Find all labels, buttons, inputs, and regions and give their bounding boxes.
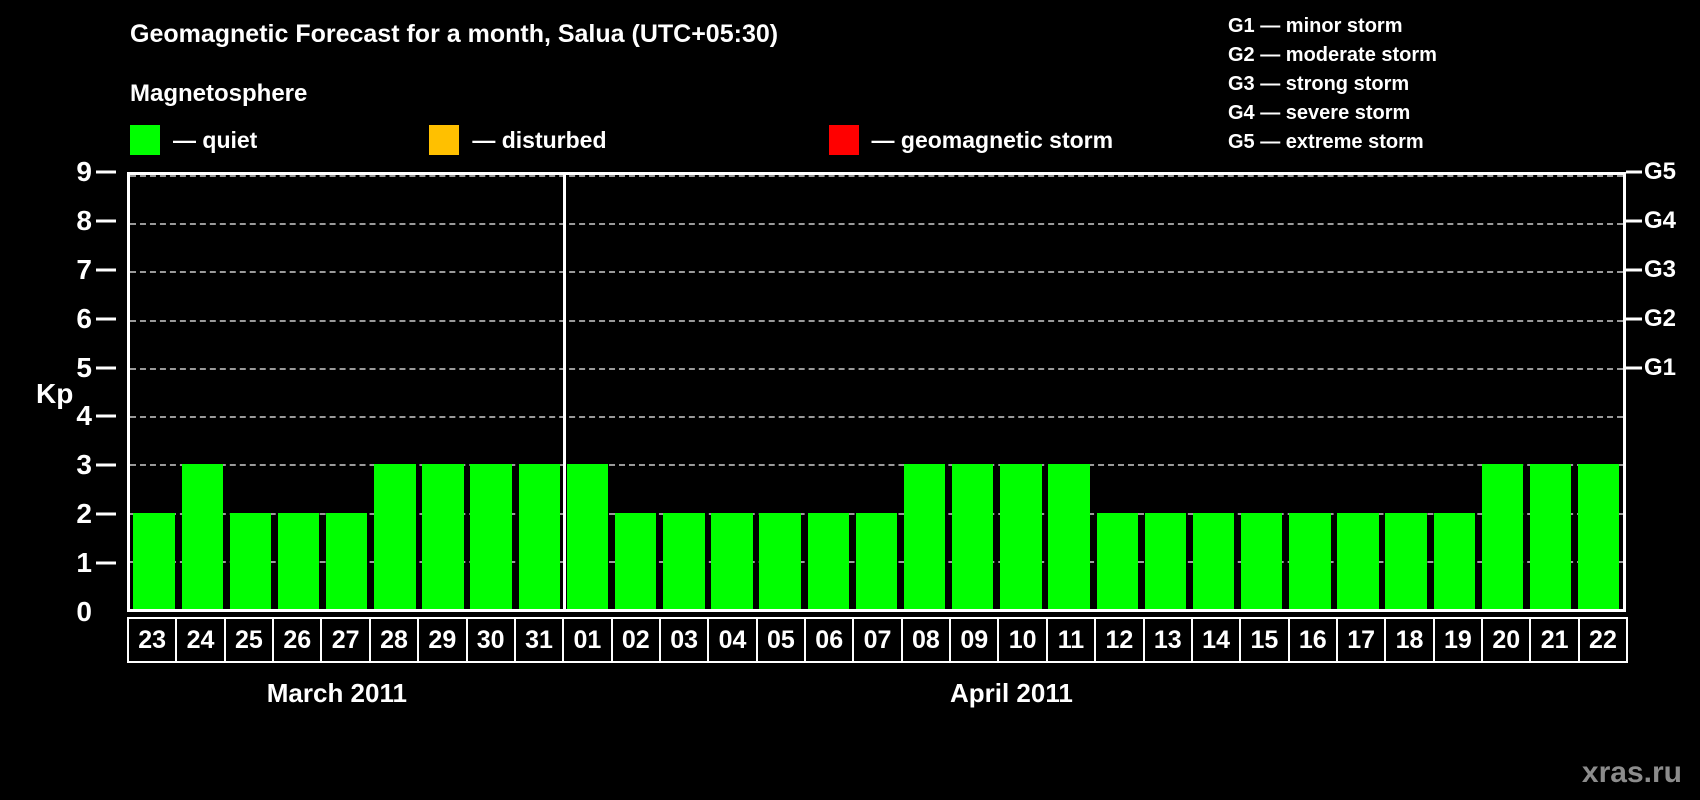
- day-label: 19: [1444, 626, 1472, 655]
- day-label: 27: [332, 626, 360, 655]
- bar: [952, 464, 993, 609]
- bar: [1000, 464, 1041, 609]
- y-tick-label-2: 2: [76, 498, 92, 530]
- day-label: 23: [138, 626, 166, 655]
- day-label-row: 2324252627282930310102030405060708091011…: [127, 617, 1626, 663]
- bar: [519, 464, 560, 609]
- day-label: 04: [719, 626, 747, 655]
- day-label: 20: [1492, 626, 1520, 655]
- disturbed-swatch: [429, 125, 459, 155]
- day-cell-23[interactable]: 23: [127, 617, 177, 663]
- bar-slot: [1093, 175, 1141, 609]
- g-legend-line-4: G4 — severe storm: [1228, 99, 1437, 128]
- day-cell-19[interactable]: 19: [1433, 617, 1483, 663]
- bar-slot: [1575, 175, 1623, 609]
- bar: [422, 464, 463, 609]
- bar: [278, 513, 319, 609]
- y-tick-mark-1: [96, 562, 116, 565]
- day-label: 16: [1299, 626, 1327, 655]
- y-axis-title: Kp: [36, 378, 73, 410]
- day-label: 24: [187, 626, 215, 655]
- day-label: 29: [428, 626, 456, 655]
- bar-slot: [949, 175, 997, 609]
- g-axis-label-G4: G4: [1644, 207, 1676, 235]
- bar: [326, 513, 367, 609]
- bar-slot: [1478, 175, 1526, 609]
- day-cell-13[interactable]: 13: [1143, 617, 1193, 663]
- day-cell-11[interactable]: 11: [1046, 617, 1096, 663]
- day-cell-14[interactable]: 14: [1191, 617, 1241, 663]
- plot-inner: [130, 175, 1623, 609]
- day-label: 12: [1105, 626, 1133, 655]
- day-label: 26: [283, 626, 311, 655]
- bar: [1578, 464, 1619, 609]
- bar: [1097, 513, 1138, 609]
- day-cell-16[interactable]: 16: [1288, 617, 1338, 663]
- bar-slot: [1286, 175, 1334, 609]
- day-label: 30: [477, 626, 505, 655]
- y-tick-mark-4: [96, 415, 116, 418]
- day-cell-22[interactable]: 22: [1578, 617, 1628, 663]
- day-label: 28: [380, 626, 408, 655]
- bar: [1482, 464, 1523, 609]
- day-label: 13: [1154, 626, 1182, 655]
- day-label: 21: [1541, 626, 1569, 655]
- storm-swatch: [829, 125, 859, 155]
- bar: [1385, 513, 1426, 609]
- bar-slot: [515, 175, 563, 609]
- day-cell-12[interactable]: 12: [1094, 617, 1144, 663]
- day-label: 01: [574, 626, 602, 655]
- bar: [856, 513, 897, 609]
- bar-slot: [852, 175, 900, 609]
- bar-slot: [708, 175, 756, 609]
- day-label: 17: [1347, 626, 1375, 655]
- g-legend-line-5: G5 — extreme storm: [1228, 128, 1437, 157]
- g-legend-line-2: G2 — moderate storm: [1228, 41, 1437, 70]
- bar: [1434, 513, 1475, 609]
- day-cell-06[interactable]: 06: [804, 617, 854, 663]
- bar-slot: [1238, 175, 1286, 609]
- day-cell-27[interactable]: 27: [320, 617, 370, 663]
- day-cell-25[interactable]: 25: [224, 617, 274, 663]
- bar-slot: [1430, 175, 1478, 609]
- bar-slot: [323, 175, 371, 609]
- g-legend-line-3: G3 — strong storm: [1228, 70, 1437, 99]
- bar: [1241, 513, 1282, 609]
- bar-series: [130, 175, 1623, 609]
- bar: [182, 464, 223, 609]
- day-label: 03: [670, 626, 698, 655]
- bar: [904, 464, 945, 609]
- month-label-0: March 2011: [267, 678, 407, 709]
- bar-slot: [371, 175, 419, 609]
- bar-slot: [419, 175, 467, 609]
- y-tick-label-7: 7: [76, 254, 92, 286]
- day-cell-17[interactable]: 17: [1336, 617, 1386, 663]
- y-tick-mark-5: [96, 366, 116, 369]
- bar: [1530, 464, 1571, 609]
- g-scale-legend: G1 — minor stormG2 — moderate stormG3 — …: [1228, 12, 1437, 157]
- day-label: 15: [1251, 626, 1279, 655]
- day-label: 05: [767, 626, 795, 655]
- day-label: 06: [815, 626, 843, 655]
- legend-label: — disturbed: [472, 127, 606, 154]
- bar-slot: [901, 175, 949, 609]
- g-axis-tick-G5: [1626, 171, 1642, 174]
- g-axis-tick-G3: [1626, 268, 1642, 271]
- day-cell-31[interactable]: 31: [514, 617, 564, 663]
- y-tick-label-9: 9: [76, 156, 92, 188]
- day-cell-08[interactable]: 08: [901, 617, 951, 663]
- g-axis-tick-G2: [1626, 317, 1642, 320]
- legend-label: — geomagnetic storm: [872, 127, 1114, 154]
- chart-subtitle: Magnetosphere: [130, 80, 307, 108]
- day-cell-05[interactable]: 05: [756, 617, 806, 663]
- y-tick-label-4: 4: [76, 400, 92, 432]
- page-title: Geomagnetic Forecast for a month, Salua …: [130, 20, 778, 49]
- bar-slot: [226, 175, 274, 609]
- bar: [1337, 513, 1378, 609]
- day-cell-28[interactable]: 28: [369, 617, 419, 663]
- bar: [1048, 464, 1089, 609]
- bar: [1289, 513, 1330, 609]
- y-tick-label-3: 3: [76, 449, 92, 481]
- day-label: 22: [1589, 626, 1617, 655]
- y-tick-mark-2: [96, 513, 116, 516]
- legend-item-2: — geomagnetic storm: [829, 125, 1114, 155]
- y-tick-label-8: 8: [76, 205, 92, 237]
- g-axis-label-G5: G5: [1644, 158, 1676, 186]
- month-label-row: March 2011April 2011: [127, 678, 1626, 720]
- day-label: 14: [1202, 626, 1230, 655]
- g-scale-axis: G1G2G3G4G5: [1626, 172, 1700, 612]
- y-tick-label-1: 1: [76, 547, 92, 579]
- legend-item-0: — quiet: [130, 125, 257, 155]
- bar-slot: [756, 175, 804, 609]
- bar-slot: [997, 175, 1045, 609]
- day-label: 25: [235, 626, 263, 655]
- day-label: 11: [1058, 626, 1084, 655]
- y-tick-mark-6: [96, 317, 116, 320]
- plot-area: [127, 172, 1626, 612]
- bar-slot: [130, 175, 178, 609]
- day-label: 31: [525, 626, 553, 655]
- y-tick-mark-3: [96, 464, 116, 467]
- bar: [711, 513, 752, 609]
- month-divider-line: [563, 175, 566, 609]
- bar: [470, 464, 511, 609]
- legend-label: — quiet: [173, 127, 257, 154]
- bar-slot: [467, 175, 515, 609]
- bar-slot: [563, 175, 611, 609]
- y-tick-label-5: 5: [76, 352, 92, 384]
- bar-slot: [804, 175, 852, 609]
- quiet-swatch: [130, 125, 160, 155]
- day-label: 02: [622, 626, 650, 655]
- g-axis-label-G1: G1: [1644, 354, 1676, 382]
- bar: [808, 513, 849, 609]
- bar: [133, 513, 174, 609]
- y-tick-label-6: 6: [76, 303, 92, 335]
- g-axis-tick-G4: [1626, 219, 1642, 222]
- bar-slot: [612, 175, 660, 609]
- g-axis-label-G3: G3: [1644, 256, 1676, 284]
- bar-slot: [1334, 175, 1382, 609]
- day-label: 18: [1396, 626, 1424, 655]
- bar-slot: [1189, 175, 1237, 609]
- y-tick-mark-8: [96, 219, 116, 222]
- day-cell-04[interactable]: 04: [707, 617, 757, 663]
- bar: [759, 513, 800, 609]
- watermark: xras.ru: [1582, 756, 1682, 790]
- day-label: 08: [912, 626, 940, 655]
- bar: [230, 513, 271, 609]
- magnetosphere-legend: — quiet— disturbed— geomagnetic storm: [130, 124, 1113, 156]
- bar-slot: [1141, 175, 1189, 609]
- day-cell-01[interactable]: 01: [562, 617, 612, 663]
- y-tick-mark-7: [96, 268, 116, 271]
- bar-slot: [1382, 175, 1430, 609]
- bar: [374, 464, 415, 609]
- day-cell-24[interactable]: 24: [175, 617, 225, 663]
- bar-slot: [1045, 175, 1093, 609]
- y-tick-mark-9: [96, 171, 116, 174]
- g-axis-tick-G1: [1626, 366, 1642, 369]
- day-cell-30[interactable]: 30: [466, 617, 516, 663]
- month-label-1: April 2011: [950, 678, 1073, 709]
- bar-slot: [660, 175, 708, 609]
- day-cell-03[interactable]: 03: [659, 617, 709, 663]
- day-cell-10[interactable]: 10: [997, 617, 1047, 663]
- day-cell-29[interactable]: 29: [417, 617, 467, 663]
- bar: [1145, 513, 1186, 609]
- bar: [615, 513, 656, 609]
- geomagnetic-forecast-chart: Geomagnetic Forecast for a month, Salua …: [0, 0, 1700, 800]
- bar-slot: [178, 175, 226, 609]
- day-cell-09[interactable]: 09: [949, 617, 999, 663]
- day-cell-18[interactable]: 18: [1384, 617, 1434, 663]
- g-legend-line-1: G1 — minor storm: [1228, 12, 1437, 41]
- day-label: 07: [864, 626, 892, 655]
- day-cell-02[interactable]: 02: [611, 617, 661, 663]
- day-cell-26[interactable]: 26: [272, 617, 322, 663]
- bar: [1193, 513, 1234, 609]
- g-axis-label-G2: G2: [1644, 305, 1676, 333]
- bar-slot: [1527, 175, 1575, 609]
- y-tick-label-0: 0: [76, 596, 92, 628]
- day-cell-20[interactable]: 20: [1481, 617, 1531, 663]
- bar: [567, 464, 608, 609]
- bar-slot: [274, 175, 322, 609]
- day-label: 10: [1009, 626, 1037, 655]
- day-cell-07[interactable]: 07: [852, 617, 902, 663]
- legend-item-1: — disturbed: [429, 125, 606, 155]
- day-label: 09: [960, 626, 988, 655]
- bar: [663, 513, 704, 609]
- day-cell-15[interactable]: 15: [1239, 617, 1289, 663]
- day-cell-21[interactable]: 21: [1529, 617, 1579, 663]
